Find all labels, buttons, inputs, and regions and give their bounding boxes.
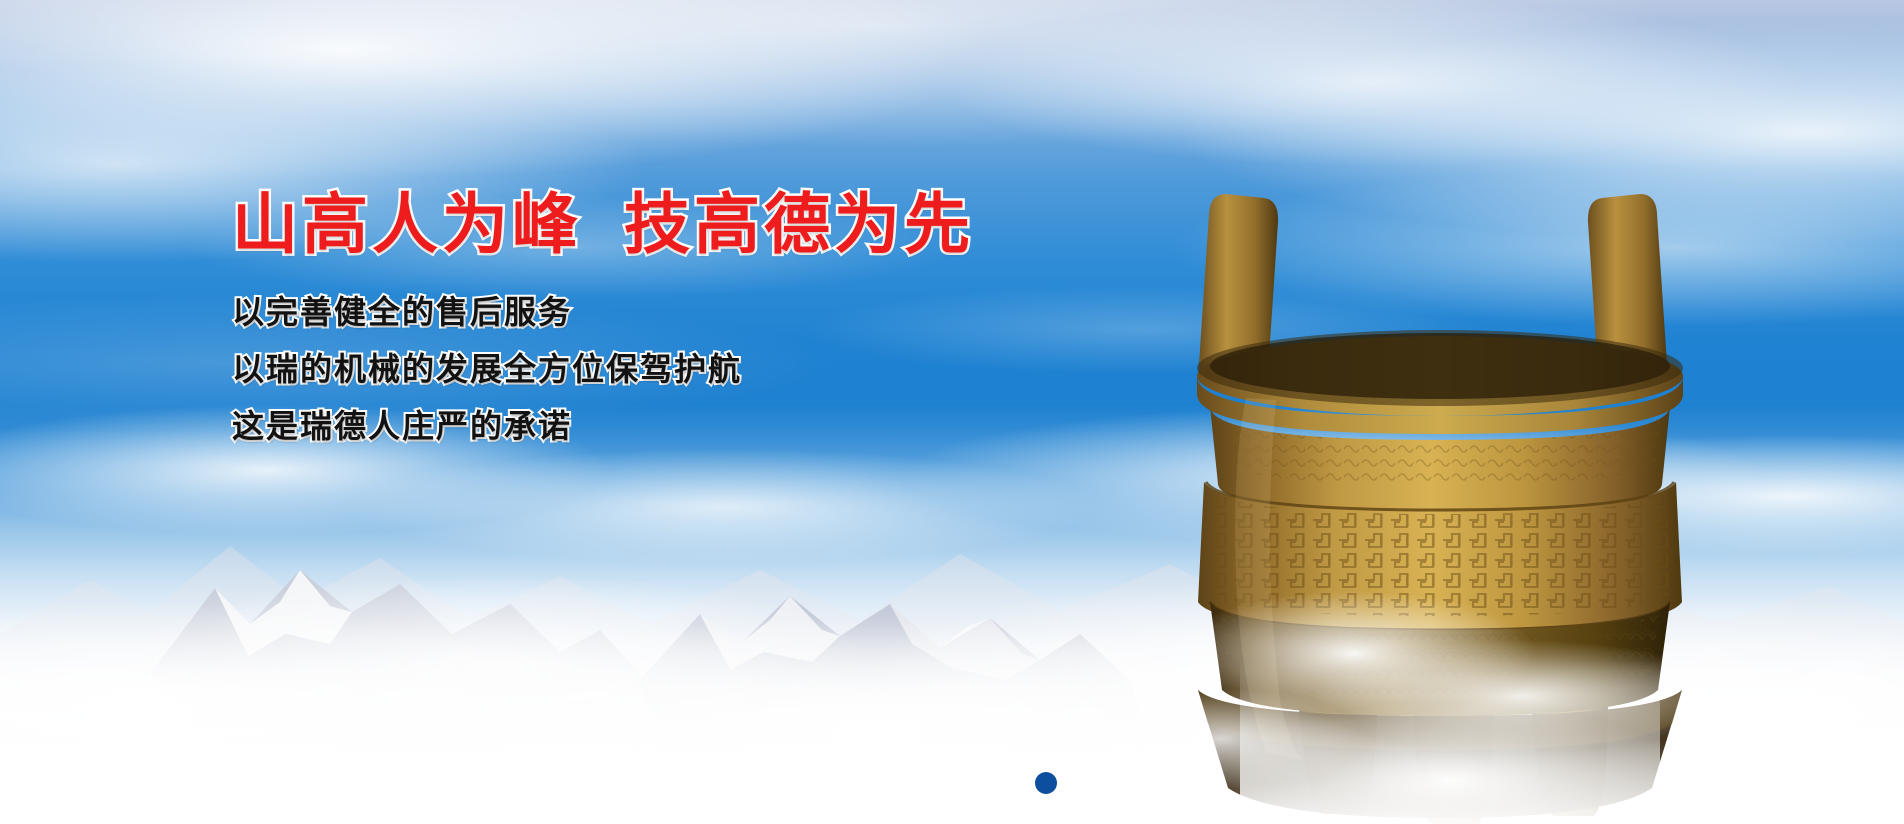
banner-subline-3: 这是瑞德人庄严的承诺: [232, 410, 1132, 442]
bronze-ding-vessel: [1180, 190, 1700, 824]
banner-subline-2: 以瑞的机械的发展全方位保驾护航: [232, 353, 1132, 385]
banner-sublines: 以完善健全的售后服务 以瑞的机械的发展全方位保驾护航 这是瑞德人庄严的承诺: [232, 296, 1132, 442]
carousel-dot-2[interactable]: [894, 774, 912, 792]
banner-subline-1: 以完善健全的售后服务: [232, 296, 1132, 328]
carousel-dot-1[interactable]: [847, 774, 865, 792]
banner-copy: 山高人为峰技高德为先 以完善健全的售后服务 以瑞的机械的发展全方位保驾护航 这是…: [232, 192, 1132, 442]
carousel-dot-5-active[interactable]: [1035, 772, 1057, 794]
banner-headline: 山高人为峰技高德为先: [232, 192, 1132, 258]
carousel-dot-3[interactable]: [941, 774, 959, 792]
headline-part-1: 山高人为峰: [232, 186, 582, 263]
headline-part-2: 技高德为先: [624, 186, 974, 263]
carousel-dots[interactable]: [0, 772, 1904, 794]
carousel-dot-4[interactable]: [988, 774, 1006, 792]
hero-banner: 山高人为峰技高德为先 以完善健全的售后服务 以瑞的机械的发展全方位保驾护航 这是…: [0, 0, 1904, 824]
